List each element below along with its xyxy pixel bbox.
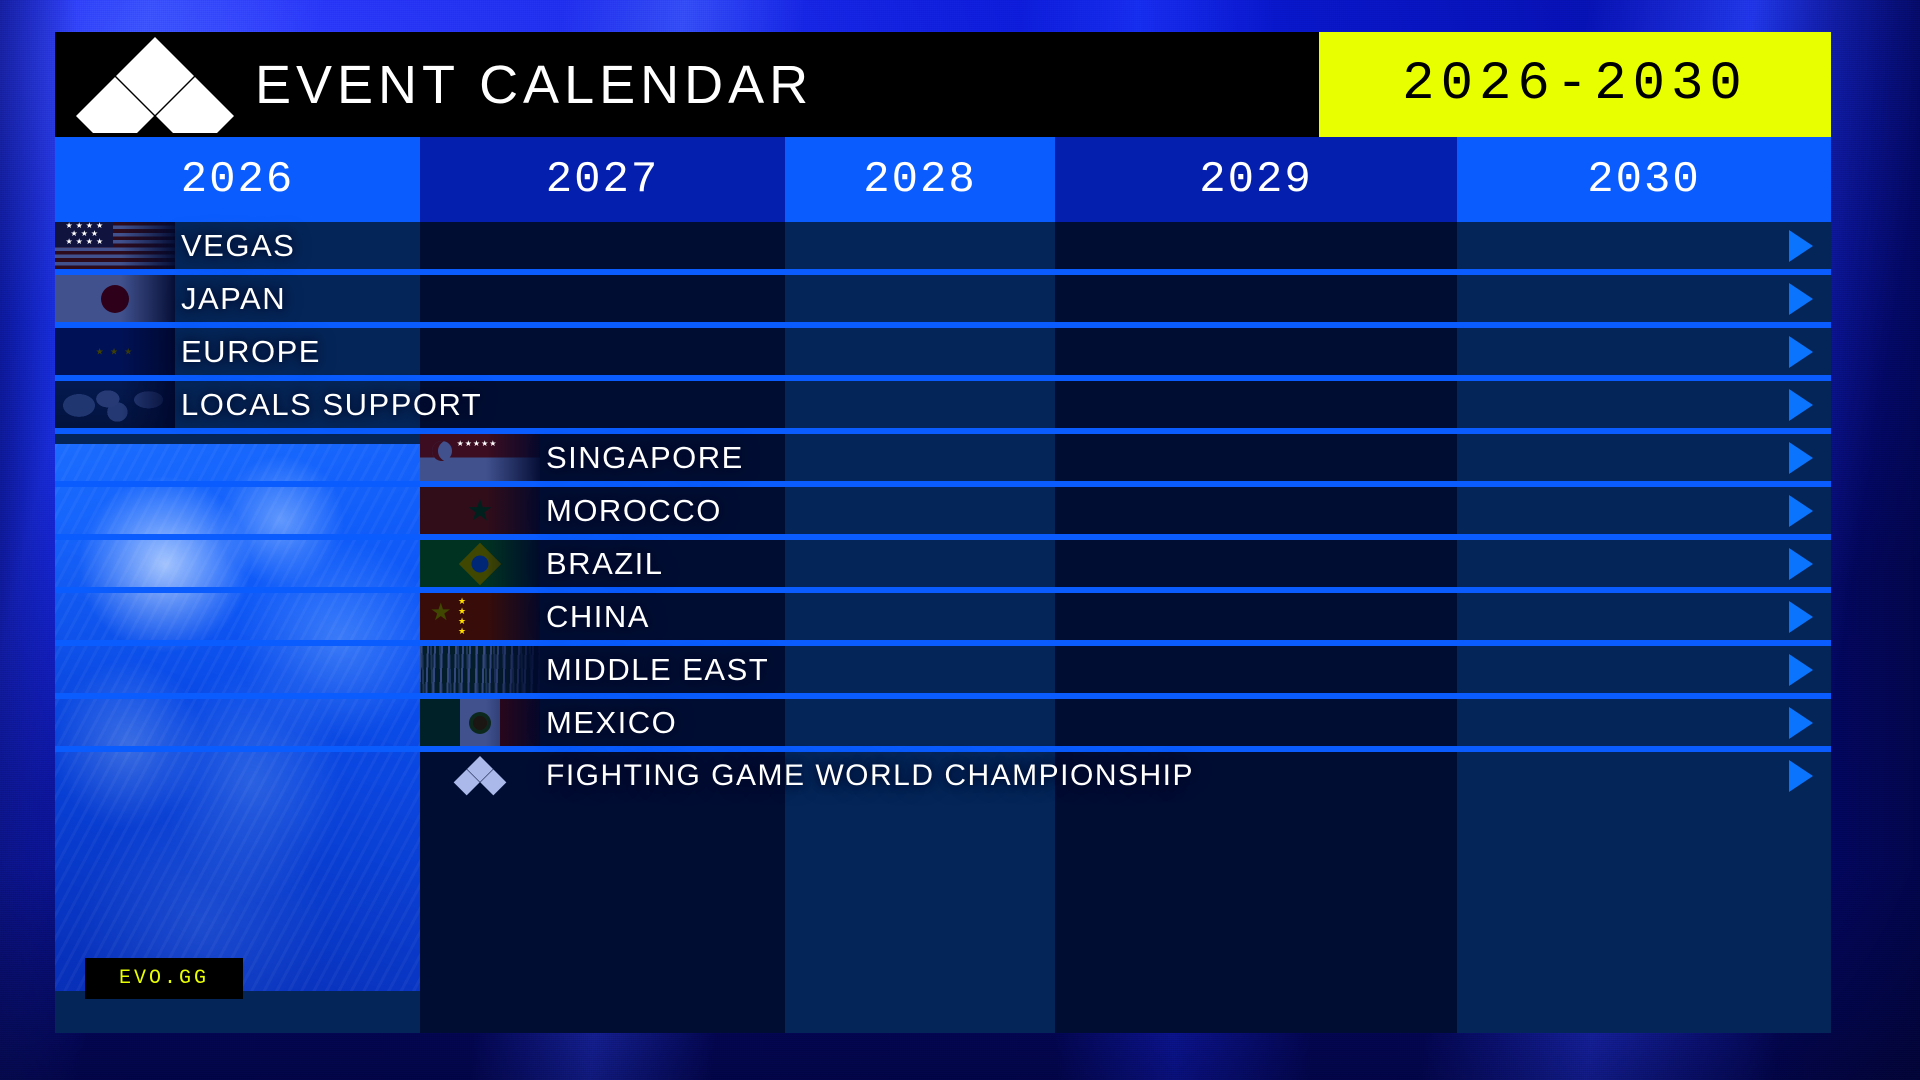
year-column-header-2026[interactable]: 2026 [55,137,420,222]
play-arrow-icon[interactable] [1789,230,1813,262]
year-column-label: 2028 [863,155,977,205]
table-row[interactable]: EUROPE [55,328,1831,375]
flag-fade-overlay [55,328,175,375]
row-label: BRAZIL [546,546,664,582]
flag-fade-overlay [55,222,175,269]
play-arrow-icon[interactable] [1789,442,1813,474]
flag-fade-overlay [420,593,540,640]
year-column-header-2029[interactable]: 2029 [1055,137,1457,222]
flag-morocco-icon [420,487,540,534]
row-label-group: SINGAPORE [420,434,744,481]
row-label-group: LOCALS SUPPORT [55,381,482,428]
play-arrow-icon[interactable] [1789,654,1813,686]
row-label-group: BRAZIL [420,540,664,587]
flag-fade-overlay [420,699,540,746]
header-title-bar: EVENT CALENDAR [55,32,1319,137]
flag-fade-overlay [420,646,540,693]
table-row[interactable]: MOROCCO [55,487,1831,534]
table-row[interactable]: CHINA [55,593,1831,640]
row-label: VEGAS [181,228,295,264]
table-row[interactable]: MEXICO [55,699,1831,746]
flag-fade-overlay [420,540,540,587]
flag-brazil-icon [420,540,540,587]
row-label: MIDDLE EAST [546,652,769,688]
play-arrow-icon[interactable] [1789,760,1813,792]
play-arrow-icon[interactable] [1789,707,1813,739]
table-row[interactable]: LOCALS SUPPORT [55,381,1831,428]
flag-fade-overlay [420,434,540,481]
year-column-label: 2030 [1587,155,1701,205]
flag-china-icon [420,593,540,640]
flag-middle-east-icon [420,646,540,693]
row-label-group: EUROPE [55,328,321,375]
row-label: JAPAN [181,281,286,317]
row-label: FIGHTING GAME WORLD CHAMPIONSHIP [546,759,1194,793]
row-label-group: MEXICO [420,699,677,746]
year-column-label: 2026 [181,155,295,205]
flag-fade-overlay [55,381,175,428]
flag-japan-icon [55,275,175,322]
row-label-group: FIGHTING GAME WORLD CHAMPIONSHIP [420,752,1194,799]
year-column-label: 2027 [546,155,660,205]
year-column-label: 2029 [1199,155,1313,205]
play-arrow-icon[interactable] [1789,601,1813,633]
year-header-row: 20262027202820292030 [55,137,1831,222]
row-label: LOCALS SUPPORT [181,387,482,423]
row-label: MEXICO [546,705,677,741]
table-row[interactable]: VEGAS [55,222,1831,269]
flag-mexico-icon [420,699,540,746]
flag-europe-icon [55,328,175,375]
globe-icon [55,381,175,428]
evo-diamond-logo [420,752,540,799]
play-arrow-icon[interactable] [1789,336,1813,368]
row-label: SINGAPORE [546,440,744,476]
table-row[interactable]: JAPAN [55,275,1831,322]
evo-diamond-logo-svg [70,37,240,133]
play-arrow-icon[interactable] [1789,389,1813,421]
flag-fade-overlay [420,487,540,534]
year-column-header-2027[interactable]: 2027 [420,137,785,222]
flag-singapore-icon [420,434,540,481]
year-range-label: 2026-2030 [1402,54,1748,115]
card-header: EVENT CALENDAR 2026-2030 [55,32,1831,137]
row-label-group: MOROCCO [420,487,722,534]
flag-fade-overlay [55,275,175,322]
year-column-header-2028[interactable]: 2028 [785,137,1055,222]
table-row[interactable]: BRAZIL [55,540,1831,587]
table-row[interactable]: MIDDLE EAST [55,646,1831,693]
calendar-body: EVO.GG VEGASJAPANEUROPELOCALS SUPPORTSIN… [55,222,1831,1033]
page-title: EVENT CALENDAR [255,58,813,112]
table-row[interactable]: SINGAPORE [55,434,1831,481]
evo-gg-label: EVO.GG [119,967,209,990]
year-range-badge: 2026-2030 [1319,32,1831,137]
table-row[interactable]: FIGHTING GAME WORLD CHAMPIONSHIP [55,752,1831,799]
row-label-group: VEGAS [55,222,295,269]
row-label: CHINA [546,599,650,635]
calendar-card: EVENT CALENDAR 2026-2030 202620272028202… [55,32,1831,1033]
row-label-group: MIDDLE EAST [420,646,769,693]
flag-usa-icon [55,222,175,269]
play-arrow-icon[interactable] [1789,548,1813,580]
evo-gg-badge[interactable]: EVO.GG [85,958,243,999]
row-label-group: JAPAN [55,275,286,322]
row-label: MOROCCO [546,493,722,529]
row-label: EUROPE [181,334,321,370]
row-label-group: CHINA [420,593,650,640]
screenshot-root: EVENT CALENDAR 2026-2030 202620272028202… [0,0,1920,1080]
event-rows: VEGASJAPANEUROPELOCALS SUPPORTSINGAPOREM… [55,222,1831,1033]
play-arrow-icon[interactable] [1789,495,1813,527]
year-column-header-2030[interactable]: 2030 [1457,137,1831,222]
play-arrow-icon[interactable] [1789,283,1813,315]
evo-diamond-logo [55,32,255,137]
